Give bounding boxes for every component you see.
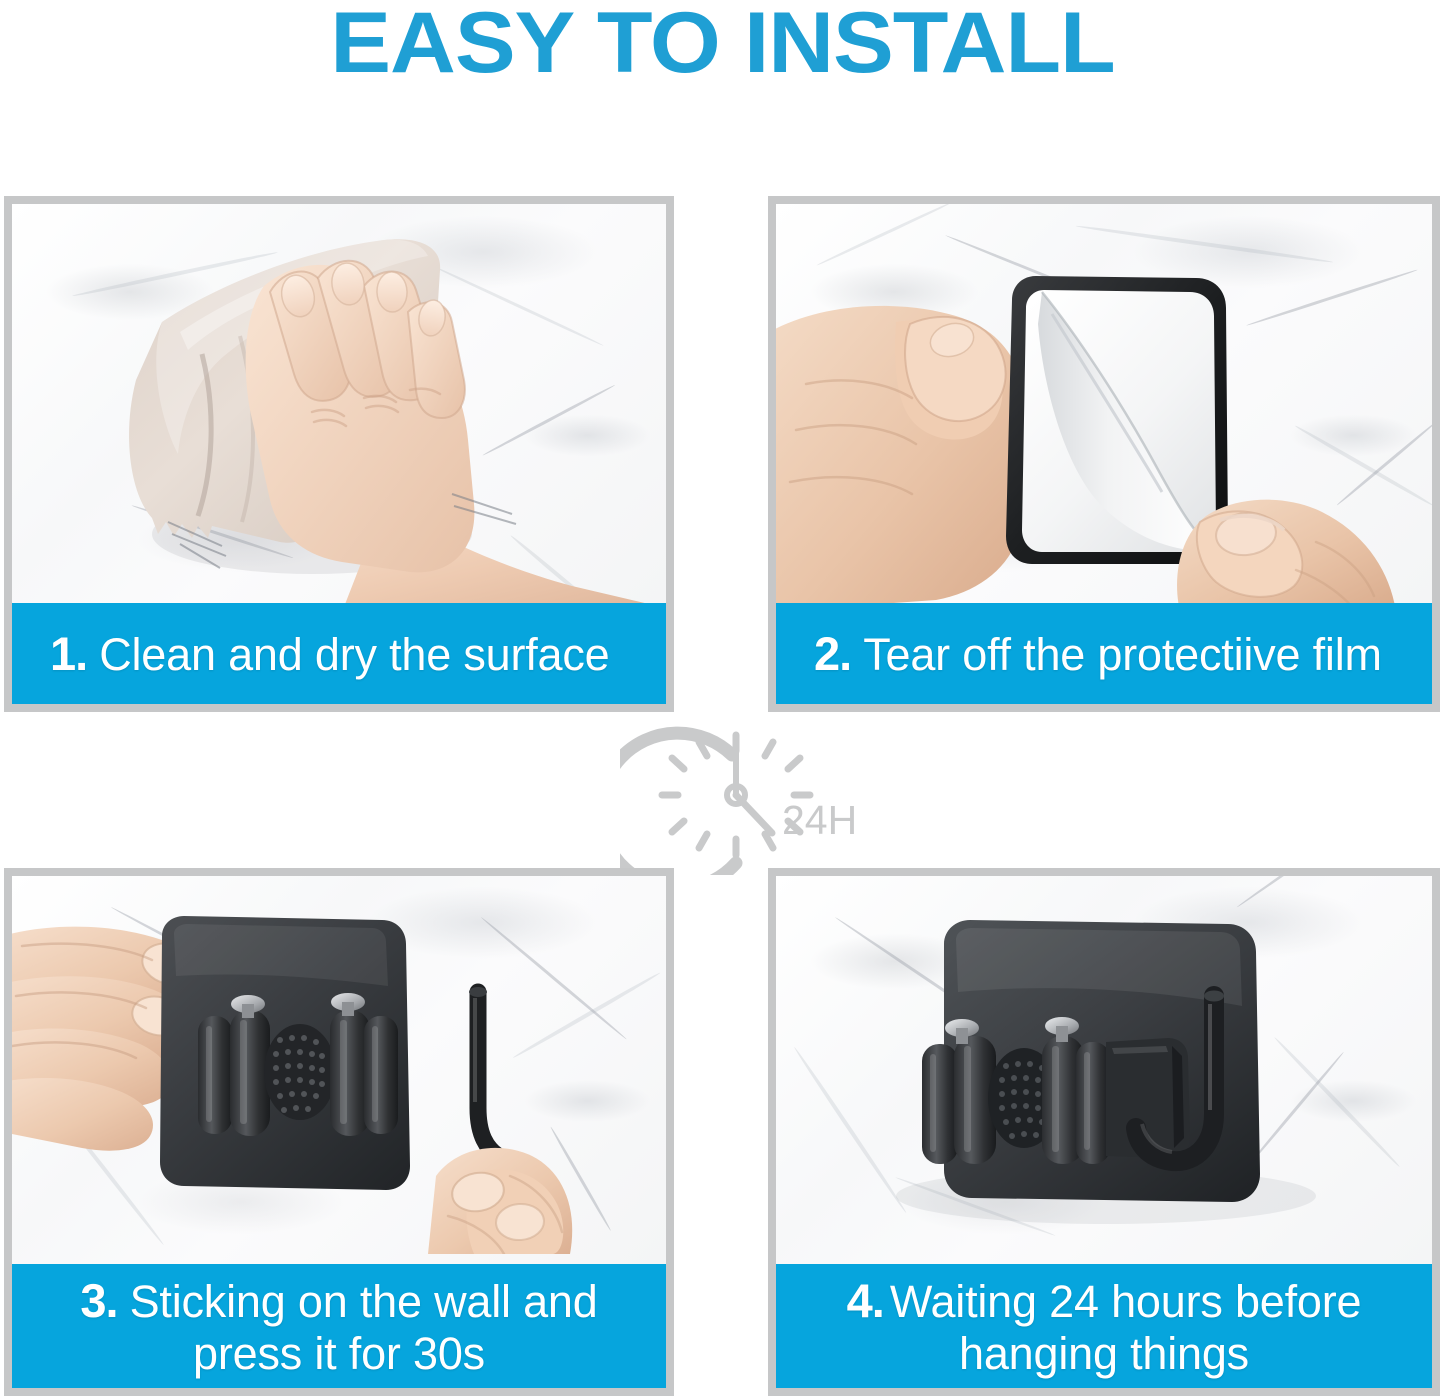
step-panel-4: 4. Waiting 24 hours before hanging thing… bbox=[768, 868, 1440, 1396]
step-4-text-line-2: hanging things bbox=[959, 1328, 1249, 1380]
pressing-bracket-illustration bbox=[12, 876, 666, 1254]
step-1-text: Clean and dry the surface bbox=[99, 629, 609, 681]
installed-holder-illustration bbox=[776, 876, 1432, 1254]
step-3-caption: 3. Sticking on the wall and press it for… bbox=[12, 1264, 666, 1388]
step-1-number: 1. bbox=[50, 626, 87, 681]
wait-duration-label: 24H bbox=[782, 797, 857, 844]
step-2-caption: 2. Tear off the protectiive film bbox=[776, 603, 1432, 704]
page-title: EASY TO INSTALL bbox=[0, 0, 1445, 93]
hand-wiping-cloth-illustration bbox=[12, 204, 666, 603]
step-2-text: Tear off the protectiive film bbox=[863, 629, 1382, 681]
step-3-number: 3. bbox=[80, 1273, 117, 1328]
step-2-number: 2. bbox=[814, 626, 851, 681]
step-4-text-line-1: Waiting 24 hours before bbox=[890, 1276, 1362, 1328]
step-1-photo bbox=[12, 204, 666, 603]
wait-24h-indicator: 24H bbox=[620, 705, 860, 875]
peeling-protective-film-illustration bbox=[776, 204, 1432, 603]
step-1-caption: 1. Clean and dry the surface bbox=[12, 603, 666, 704]
step-4-caption: 4. Waiting 24 hours before hanging thing… bbox=[776, 1264, 1432, 1388]
step-4-photo bbox=[776, 876, 1432, 1264]
step-panel-1: 1. Clean and dry the surface bbox=[4, 196, 674, 712]
step-3-photo bbox=[12, 876, 666, 1264]
step-3-text-line-2: press it for 30s bbox=[193, 1328, 485, 1380]
clock-icon bbox=[620, 705, 860, 875]
step-panel-2: 2. Tear off the protectiive film bbox=[768, 196, 1440, 712]
step-panel-3: 3. Sticking on the wall and press it for… bbox=[4, 868, 674, 1396]
step-3-text-line-1: Sticking on the wall and bbox=[130, 1276, 598, 1328]
step-4-number: 4. bbox=[847, 1273, 884, 1328]
step-2-photo bbox=[776, 204, 1432, 603]
